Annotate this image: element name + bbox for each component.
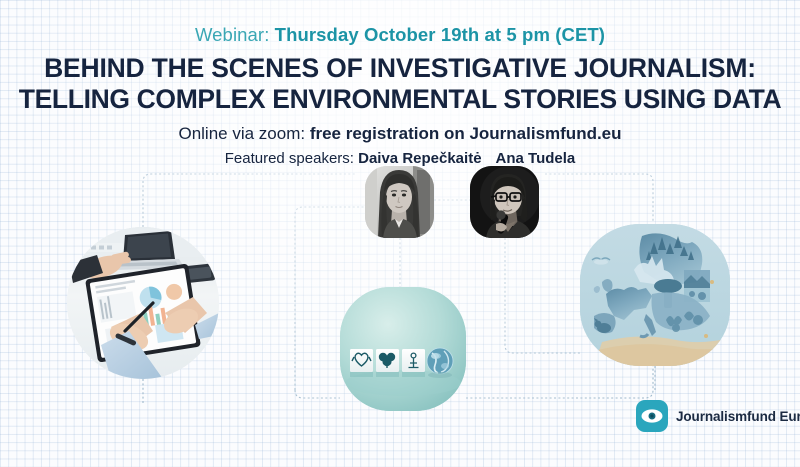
title-line-1: BEHIND THE SCENES OF INVESTIGATIVE JOURN… <box>0 53 800 84</box>
poster-text-block: Webinar: Thursday October 19th at 5 pm (… <box>0 22 800 170</box>
journalismfund-logo[interactable]: Journalismfund Europe <box>636 400 800 432</box>
speaker-photo-daiva-repeckaite <box>365 166 434 238</box>
desk-data-photo <box>67 227 219 379</box>
europe-collage-photo <box>580 224 730 366</box>
eye-icon <box>636 400 668 432</box>
registration-line: Online via zoom: free registration on Jo… <box>0 122 800 146</box>
kicker-emphasis: Thursday October 19th at 5 pm (CET) <box>275 24 605 45</box>
connector-speaker2-down <box>505 238 580 353</box>
speaker-name-1: Daiva Repečkaitė <box>358 150 481 167</box>
connector-outer-loop <box>143 174 355 227</box>
logo-wordmark: Journalismfund Europe <box>676 409 800 424</box>
speakers-line: Featured speakers: Daiva RepečkaitėAna T… <box>0 148 800 170</box>
registration-link[interactable]: free registration on Journalismfund.eu <box>310 124 622 143</box>
connector-top-right <box>545 174 653 221</box>
speaker-name-2: Ana Tudela <box>496 150 576 167</box>
environment-blocks-photo <box>340 287 466 411</box>
registration-prefix: Online via zoom: <box>178 124 309 143</box>
kicker-line: Webinar: Thursday October 19th at 5 pm (… <box>0 22 800 48</box>
title-line-2: TELLING COMPLEX ENVIRONMENTAL STORIES US… <box>0 84 800 115</box>
connector-bottom-sweep <box>466 366 653 398</box>
speaker-photo-ana-tudela <box>470 166 539 238</box>
speakers-prefix: Featured speakers: <box>225 150 358 167</box>
connector-inner-loop-2 <box>295 390 340 398</box>
webinar-poster: Webinar: Thursday October 19th at 5 pm (… <box>0 0 800 467</box>
page-title: BEHIND THE SCENES OF INVESTIGATIVE JOURN… <box>0 53 800 114</box>
kicker-prefix: Webinar: <box>195 24 275 45</box>
